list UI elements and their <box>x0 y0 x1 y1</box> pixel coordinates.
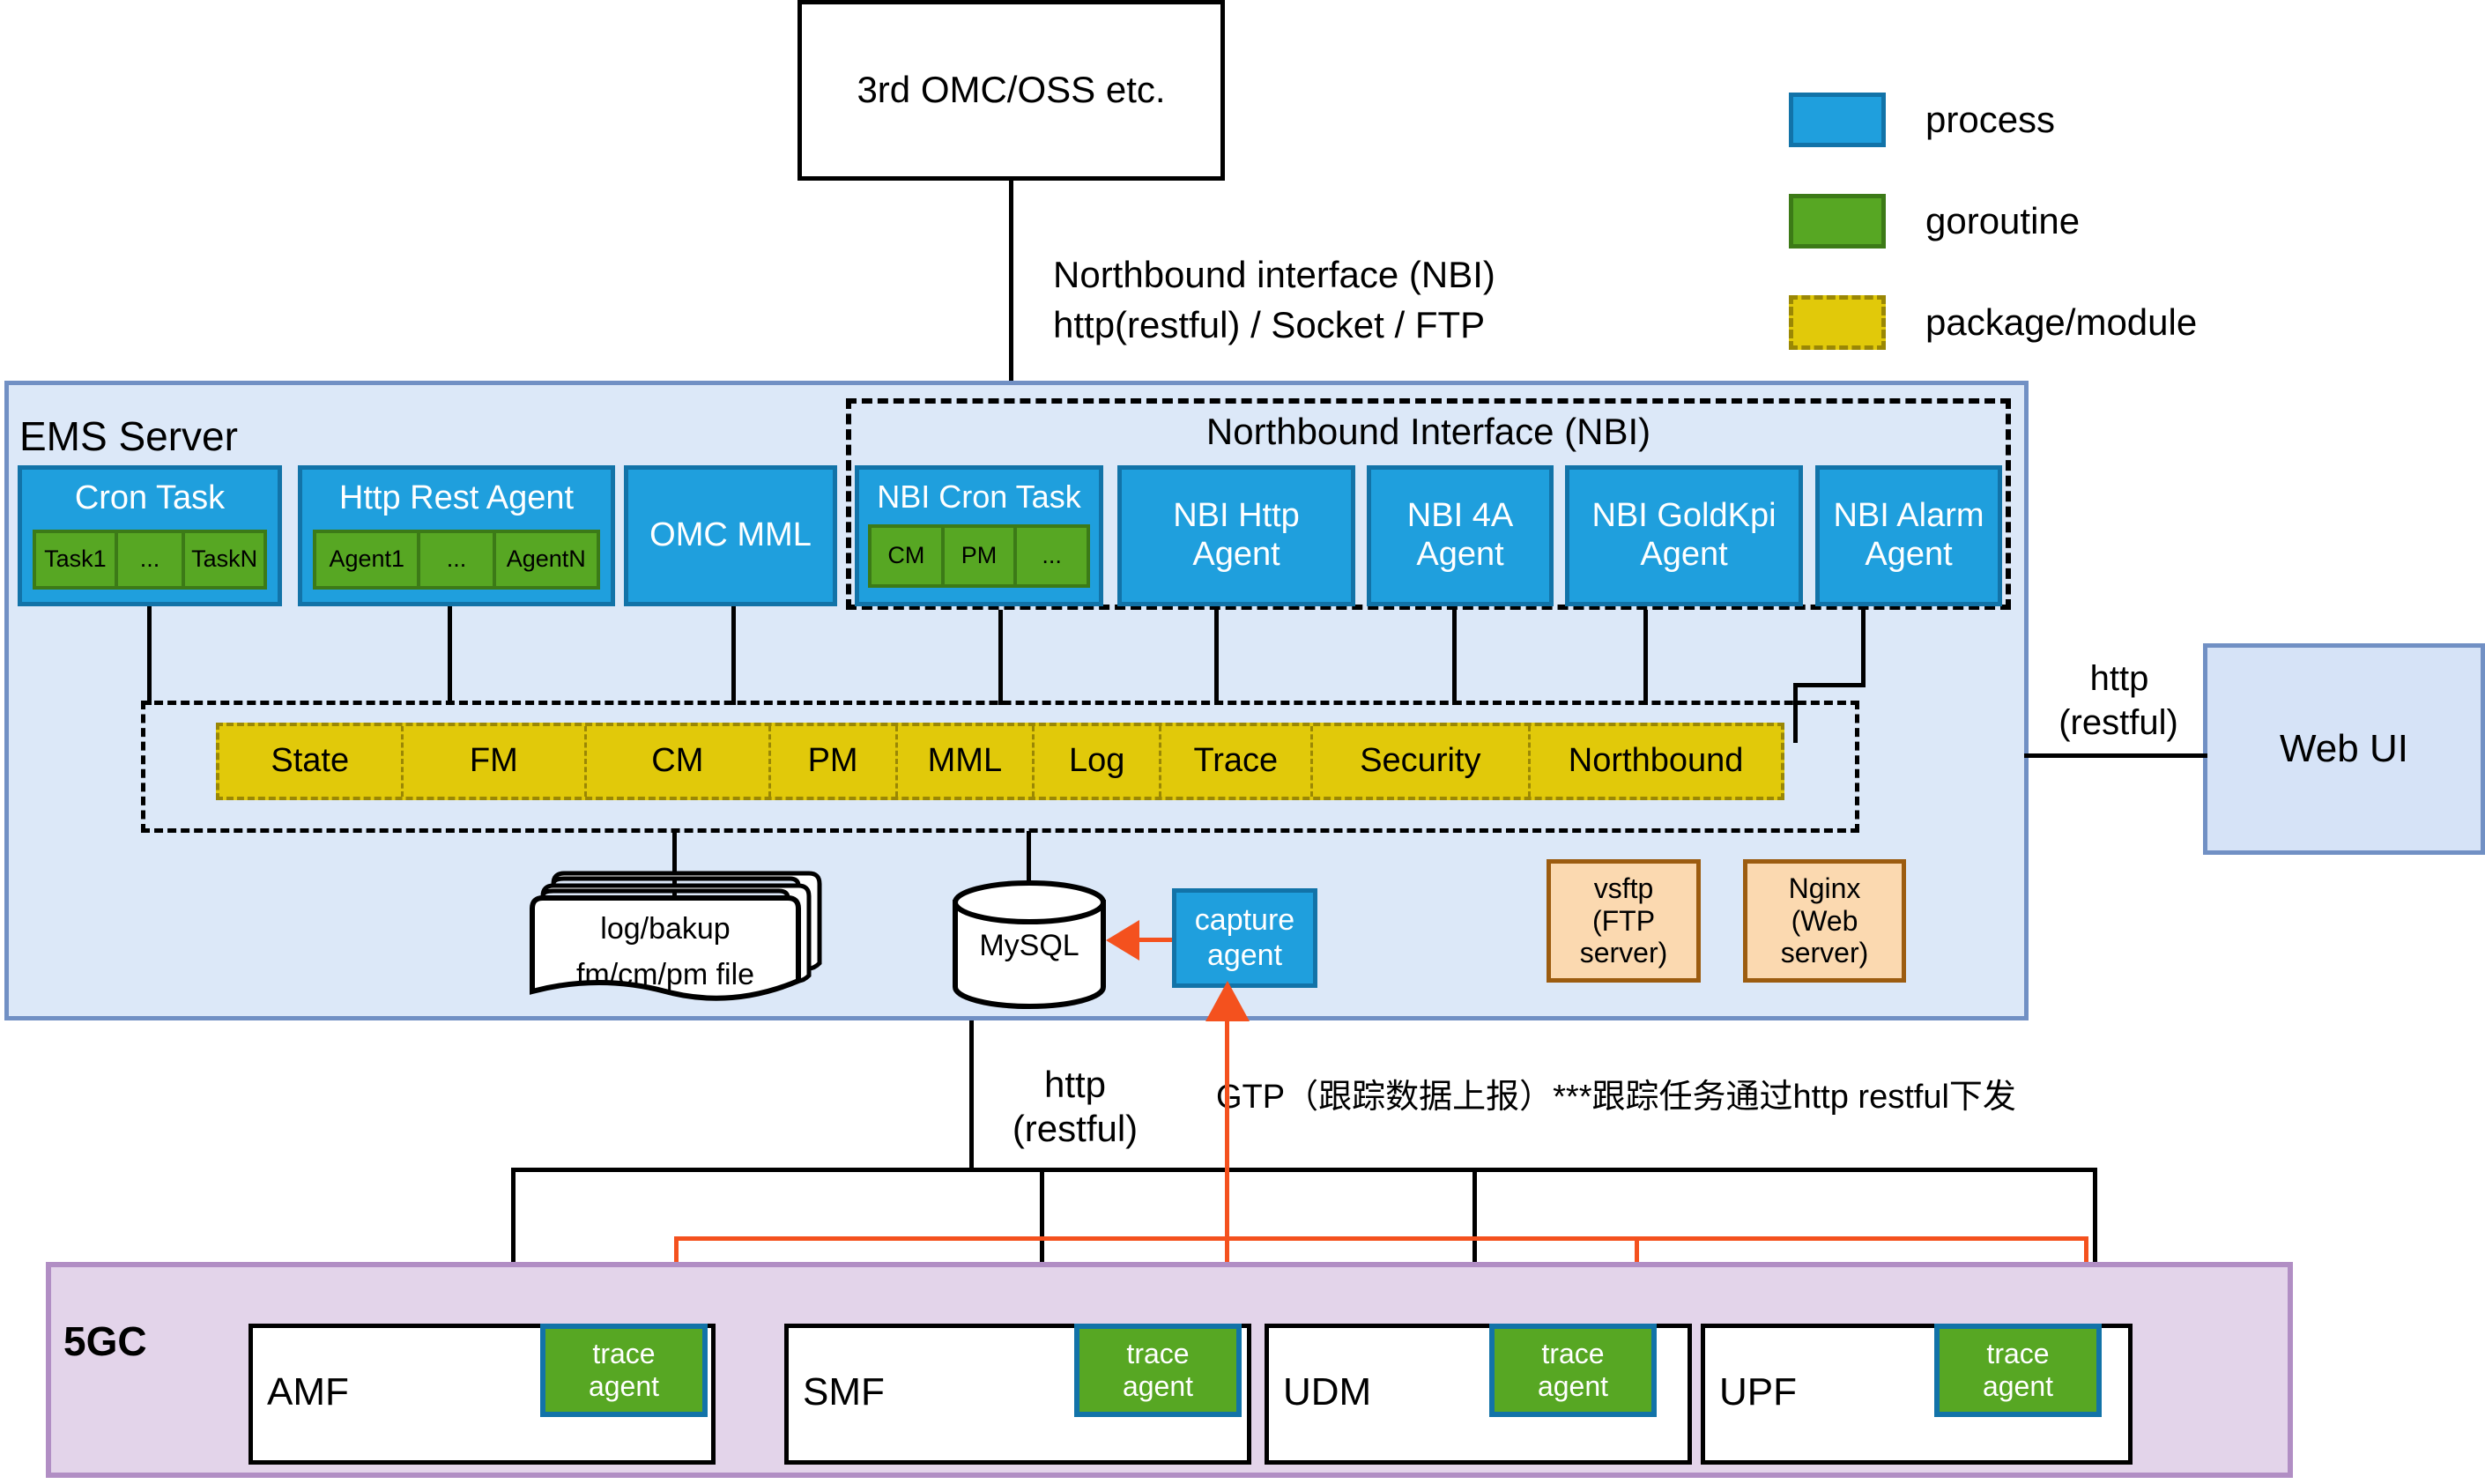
process-nbi-goldkpi-agent-label-line1: NBI GoldKpi <box>1591 497 1776 536</box>
connector-ems-to-5gc-trunk <box>969 1020 974 1170</box>
module-trace[interactable]: Trace <box>1161 726 1312 797</box>
process-nbi-4a-agent-label-line2: Agent <box>1416 536 1503 575</box>
connector-nbi-alarm-agent-segment-middle <box>1793 683 1866 687</box>
southbound-http-label-line1: http <box>996 1065 1154 1105</box>
ems-server-title: EMS Server <box>19 412 238 460</box>
module-pm[interactable]: PM <box>771 726 898 797</box>
process-http-rest-agent[interactable]: Http Rest Agent Agent1 ... AgentN <box>298 465 615 606</box>
process-nbi-goldkpi-agent-label-line2: Agent <box>1640 536 1727 575</box>
web-ui-link-label-line1: http <box>2044 659 2194 698</box>
goroutine-cm[interactable]: CM <box>868 524 945 588</box>
process-cron-task-label: Cron Task <box>22 475 278 523</box>
process-nbi-cron-task-label: NBI Cron Task <box>859 473 1099 521</box>
nf-amf-label: AMF <box>267 1370 349 1414</box>
connector-modules-to-mysql <box>1027 831 1031 888</box>
legend-label-package-module: package/module <box>1925 295 2366 350</box>
goroutine-group-http-rest-agent: Agent1 ... AgentN <box>313 530 600 590</box>
process-nbi-alarm-agent-label-line2: Agent <box>1865 536 1952 575</box>
arrowhead-capture-to-mysql <box>1106 920 1139 961</box>
nbi-group-title: Northbound Interface (NBI) <box>846 407 2011 456</box>
legend-swatch-package-module <box>1789 295 1886 350</box>
server-vsftp-label-line2: (FTP server) <box>1551 905 1696 970</box>
trace-agent-smf-label-line2: agent <box>1123 1370 1193 1403</box>
process-nbi-alarm-agent[interactable]: NBI Alarm Agent <box>1815 465 2002 606</box>
module-fm[interactable]: FM <box>404 726 588 797</box>
module-northbound[interactable]: Northbound <box>1531 726 1781 797</box>
southbound-http-label-line2: (restful) <box>983 1109 1168 1149</box>
module-cm[interactable]: CM <box>587 726 771 797</box>
server-nginx[interactable]: Nginx (Web server) <box>1743 859 1906 983</box>
module-mml[interactable]: MML <box>898 726 1035 797</box>
trace-agent-amf-label-line2: agent <box>589 1370 659 1403</box>
goroutine-agent1[interactable]: Agent1 <box>313 530 420 590</box>
trace-agent-udm-label-line2: agent <box>1538 1370 1608 1403</box>
connector-cron-task-to-modules <box>147 606 152 705</box>
trace-agent-udm[interactable]: trace agent <box>1489 1324 1657 1417</box>
server-nginx-label-line1: Nginx <box>1789 872 1861 905</box>
connector-trace-orange-bus <box>674 1236 2088 1241</box>
connector-ems-to-web-ui <box>2024 753 2207 758</box>
trace-agent-smf[interactable]: trace agent <box>1074 1324 1242 1417</box>
legend-swatch-goroutine <box>1789 194 1886 249</box>
goroutine-agentn[interactable]: AgentN <box>496 530 600 590</box>
goroutine-group-nbi-cron-task: CM PM ... <box>868 524 1090 588</box>
log-backup-label-line1: log/bakup <box>538 912 793 947</box>
process-nbi-goldkpi-agent[interactable]: NBI GoldKpi Agent <box>1565 465 1803 606</box>
mysql-label: MySQL <box>950 929 1109 964</box>
trace-agent-smf-label-line1: trace <box>1126 1338 1189 1370</box>
process-capture-agent[interactable]: capture agent <box>1172 888 1317 988</box>
process-nbi-alarm-agent-label-line1: NBI Alarm <box>1833 497 1984 536</box>
goroutine-taskn[interactable]: TaskN <box>185 530 267 590</box>
trace-agent-upf[interactable]: trace agent <box>1934 1324 2102 1417</box>
goroutine-pm[interactable]: PM <box>945 524 1018 588</box>
trace-agent-upf-label-line1: trace <box>1986 1338 2049 1370</box>
nf-udm-label: UDM <box>1283 1370 1371 1414</box>
connector-nbi-goldkpi-agent-to-modules <box>1643 610 1648 705</box>
process-omc-mml-label: OMC MML <box>649 516 812 555</box>
module-state[interactable]: State <box>219 726 404 797</box>
goroutine-task1[interactable]: Task1 <box>33 530 118 590</box>
connector-5gc-distribution-bar <box>511 1168 2097 1172</box>
capture-agent-label-line2: agent <box>1207 939 1282 973</box>
legend-swatch-process <box>1789 93 1886 147</box>
trace-agent-upf-label-line2: agent <box>1983 1370 2053 1403</box>
web-ui-box[interactable]: Web UI <box>2203 643 2485 855</box>
process-nbi-http-agent-label-line1: NBI Http <box>1173 497 1300 536</box>
web-ui-label: Web UI <box>2280 727 2408 772</box>
connector-oss-to-ems <box>1009 181 1013 383</box>
goroutine-group-cron-task: Task1 ... TaskN <box>33 530 267 590</box>
trace-agent-amf[interactable]: trace agent <box>540 1324 708 1417</box>
nbi-link-label-line2: http(restful) / Socket / FTP <box>1053 304 1485 346</box>
connector-http-rest-agent-to-modules <box>448 606 452 705</box>
mysql-database[interactable]: MySQL <box>950 883 1109 1006</box>
process-nbi-4a-agent[interactable]: NBI 4A Agent <box>1367 465 1554 606</box>
module-security[interactable]: Security <box>1313 726 1532 797</box>
server-nginx-label-line2: (Web server) <box>1747 905 1902 970</box>
connector-nbi-http-agent-to-modules <box>1214 610 1219 705</box>
process-omc-mml[interactable]: OMC MML <box>624 465 837 606</box>
goroutine-ellipsis[interactable]: ... <box>420 530 495 590</box>
connector-omc-mml-to-modules <box>731 606 736 705</box>
southbound-gtp-note: GTP（跟踪数据上报）***跟踪任务通过http restful下发 <box>1216 1069 2016 1117</box>
trace-agent-amf-label-line1: trace <box>592 1338 655 1370</box>
connector-nbi-cron-task-to-modules <box>998 610 1003 705</box>
capture-agent-label-line1: capture <box>1195 903 1294 938</box>
log-backup-file-stack: log/bakup fm/cm/pm file <box>529 859 846 1000</box>
nf-upf-label: UPF <box>1719 1370 1797 1414</box>
legend: process goroutine package/module <box>1789 84 2318 339</box>
process-nbi-cron-task[interactable]: NBI Cron Task CM PM ... <box>855 465 1103 606</box>
process-nbi-4a-agent-label-line1: NBI 4A <box>1407 497 1513 536</box>
connector-nbi-4a-agent-to-modules <box>1452 610 1457 705</box>
process-http-rest-agent-label: Http Rest Agent <box>302 475 611 523</box>
web-ui-link-label-line2: (restful) <box>2027 703 2210 742</box>
core-5gc-title: 5GC <box>63 1317 147 1365</box>
legend-label-process: process <box>1925 93 2296 147</box>
module-bar: State FM CM PM MML Log Trace Security No… <box>216 723 1784 800</box>
goroutine-ellipsis[interactable]: ... <box>1017 524 1090 588</box>
nbi-link-label-line1: Northbound interface (NBI) <box>1053 254 1495 296</box>
log-backup-label-line2: fm/cm/pm file <box>538 958 793 993</box>
process-cron-task[interactable]: Cron Task Task1 ... TaskN <box>18 465 282 606</box>
module-log[interactable]: Log <box>1035 726 1161 797</box>
third-party-oms-box[interactable]: 3rd OMC/OSS etc. <box>797 0 1225 181</box>
diagram-canvas: process goroutine package/module 3rd OMC… <box>0 0 2485 1484</box>
arrowhead-gtp-to-capture-agent <box>1205 981 1250 1021</box>
process-nbi-http-agent[interactable]: NBI Http Agent <box>1117 465 1355 606</box>
server-vsftp-label-line1: vsftp <box>1594 872 1654 905</box>
goroutine-ellipsis[interactable]: ... <box>118 530 186 590</box>
process-nbi-http-agent-label-line2: Agent <box>1192 536 1280 575</box>
connector-nbi-alarm-agent-segment-top <box>1861 606 1866 687</box>
legend-label-goroutine: goroutine <box>1925 194 2296 249</box>
trace-agent-udm-label-line1: trace <box>1541 1338 1604 1370</box>
nf-smf-label: SMF <box>803 1370 885 1414</box>
server-vsftp[interactable]: vsftp (FTP server) <box>1547 859 1701 983</box>
